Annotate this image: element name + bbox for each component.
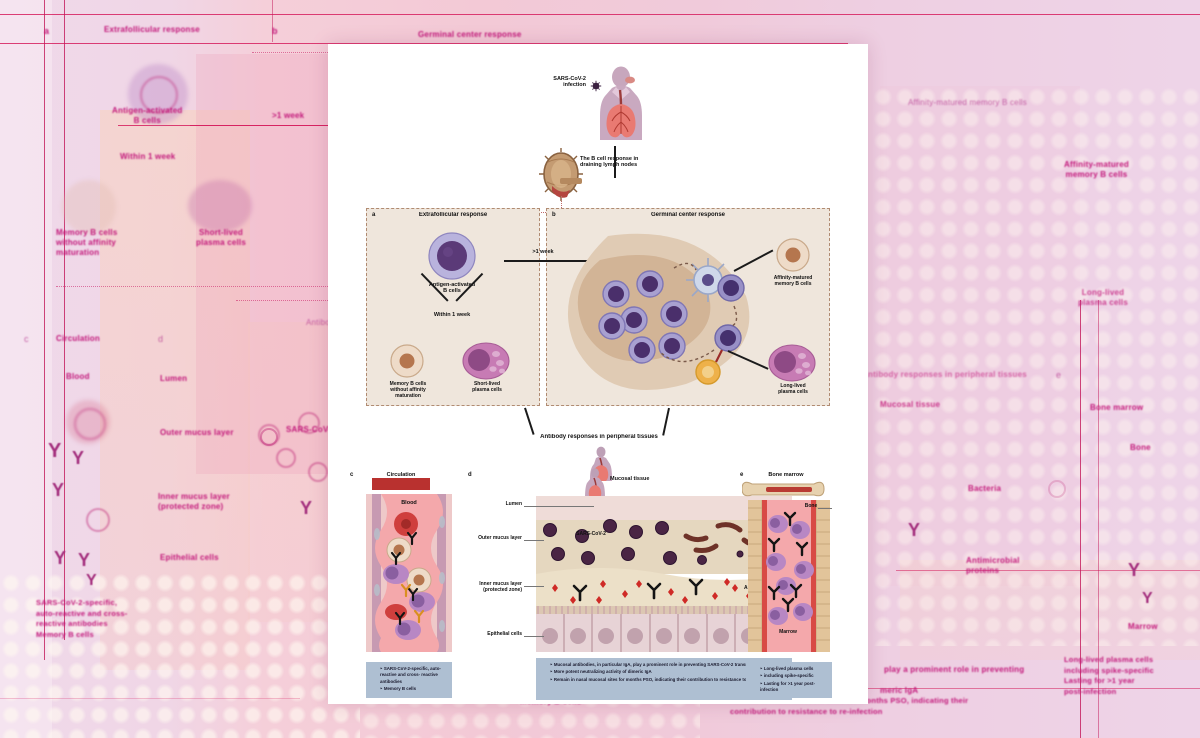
bg-antibody-10: Y [1142,590,1153,608]
short-lived-plasma-cell [462,342,510,380]
bg-band-rose [196,54,341,474]
bg-label-long-lived-bullets: Long-lived plasma cells including spike-… [1064,655,1154,697]
bg-label-germinal: Germinal center response [418,30,522,40]
panel-c-letter: c [350,472,353,478]
label-short-lived-plasma-cells: Short-lived plasma cells [458,382,516,394]
bg-label-extrafollicular: Extrafollicular response [104,25,200,35]
label-long-lived-plasma-cells: Long-lived plasma cells [764,384,822,396]
bg-rule-week [190,125,340,126]
bg-label-affinity-top-right: Affinity-matured memory B cells [908,98,1027,108]
bg-dotgrid-right [872,86,1200,646]
bg-label-memory-no-affinity: Memory B cells without affinity maturati… [56,228,118,258]
germinal-center-illustration [556,226,766,398]
bg-rule-lower-3 [0,698,300,699]
bg-virion-3 [276,448,296,468]
bg-label-circulation-bullets: SARS-CoV-2-specific, auto-reactive and c… [36,598,128,640]
bg-antibody-7: Y [300,498,312,519]
leader-outer-mucus [524,540,544,541]
panel-d-letter: d [468,472,472,478]
connector-a-down [524,408,534,435]
bg-antibody-6: Y [86,572,97,590]
bg-label-blood: Blood [66,372,90,382]
label-marrow: Marrow [768,630,808,636]
label-sars-cov-2-mucosa: SARS-CoV-2 [568,532,614,538]
bg-label-outer-mucus: Outer mucus layer [160,428,234,438]
figure-card: SARS-CoV-2 infection The B cell response… [328,44,868,704]
label-affinity-matured-memory: Affinity-matured memory B cells [760,276,826,288]
panel-c-bullet-2: Memory B cells [380,686,448,692]
affinity-matured-memory-b-cell [776,238,810,272]
blood-vessel-illustration [366,494,452,652]
label-blood: Blood [382,500,436,506]
bg-virion-4 [308,462,328,482]
panel-e-letter: e [740,472,743,478]
panel-d-title: Mucosal tissue [610,476,680,482]
long-lived-plasma-cell [768,344,816,382]
bg-label-bone-marrow: Bone marrow [1090,403,1143,413]
bg-label-meric-iga: meric IgA [880,686,918,696]
human-torso-illustration [586,66,656,144]
panel-a-letter: a [372,212,375,218]
panel-a-title: Extrafollicular response [388,212,518,219]
bg-label-panel-a-letter: a [44,26,49,37]
bg-label-short-lived-plasma: Short-lived plasma cells [196,228,246,248]
bg-cell-ring-2 [74,408,106,440]
bg-label-prominent-role: play a prominent role in preventing [884,665,1024,675]
panel-e-bullet-1: Long-lived plasma cells [760,666,828,672]
memory-b-cell-no-affinity [390,344,424,378]
bg-label-gt-1-week: >1 week [272,111,304,121]
panel-e-bullet-2: including spike-specific [760,673,828,679]
bg-antibody-4: Y [54,548,66,569]
bg-label-mucosal-tissue: Mucosal tissue [880,400,940,410]
bg-label-marrow: Marrow [1128,622,1158,632]
label-lumen: Lumen [474,502,522,508]
bg-label-circulation: Circulation [56,334,100,344]
leader-lumen [524,506,594,507]
bg-label-within-1-week: Within 1 week [120,152,175,162]
bg-label-peripheral-tissues: Antibody responses in peripheral tissues [862,370,1027,380]
bg-antibody-3: Y [52,480,64,501]
label-memory-b-cells-no-affinity: Memory B cells without affinity maturati… [376,382,440,399]
leader-inner-mucus [524,586,544,587]
bg-label-antimicrobial: Antimicrobial proteins [966,556,1020,576]
bone-icon [742,480,834,500]
circulation-title-bar [372,478,430,490]
label-outer-mucus-layer: Outer mucus layer [460,536,522,542]
bg-blob-plasma [188,180,252,232]
bg-label-inner-mucus: Inner mucus layer (protected zone) [158,492,230,512]
leader-bone [818,508,832,509]
bg-virion-6 [260,428,278,446]
panel-e-callout: Long-lived plasma cells including spike-… [746,662,832,698]
label-sars-cov2-infection: SARS-CoV-2 infection [524,76,586,89]
panel-b-title: Germinal center response [578,212,798,219]
bg-label-bone: Bone [1130,443,1151,453]
bg-vrule-2 [64,0,65,640]
bg-label-panel-d-letter: d [158,334,163,345]
label-inner-mucus-layer: Inner mucus layer (protected zone) [458,582,522,594]
virion-icon-top [590,80,602,92]
bg-virion-7 [1048,480,1066,498]
bg-label-epithelial: Epithelial cells [160,553,219,563]
bg-label-long-lived-plasma: Long-lived plasma cells [1078,288,1128,308]
bg-label-panel-b-letter: b [272,26,278,37]
bg-antibody-2: Y [72,448,84,469]
bg-rule-lower-1 [896,570,1200,571]
bg-antibody-9: Y [1128,560,1140,581]
panel-b-letter: b [552,212,556,218]
panel-c-callout: SARS-CoV-2-specific, auto-reactive and c… [366,662,452,698]
panel-e-bullet-3: Lasting for >1 year post-infection [760,681,828,694]
label-antigen-activated-b-cells: Antigen-activated B cells [412,282,492,295]
label-b-cell-response-lymph: The B cell response in draining lymph no… [580,156,680,169]
bg-rule-top-1 [0,14,1200,15]
panel-c-title: Circulation [368,472,434,478]
bg-label-panel-c-letter: c [24,334,29,345]
label-antibody-responses-peripheral: Antibody responses in peripheral tissues [504,434,694,441]
bg-label-affinity-matured: Affinity-matured memory B cells [1064,160,1129,180]
bg-vrule-1 [44,0,45,660]
bg-antibody-1: Y [48,440,61,463]
bg-blob-memory [62,180,116,234]
label-epithelial-cells: Epithelial cells [468,632,522,638]
bg-label-lumen: Lumen [160,374,187,384]
bg-label-panel-e-letter: e [1056,370,1061,381]
bg-virion-5 [86,508,110,532]
antigen-activated-b-cell [428,232,476,280]
label-within-1-week: Within 1 week [420,312,484,318]
connector-b-down [662,408,670,436]
bg-label-antigen-activated: Antigen-activated B cells [112,106,183,126]
bg-dotgrid-left [0,572,360,738]
bg-antibody-8: Y [908,520,920,541]
bg-label-bacteria: Bacteria [968,484,1001,494]
bg-antibody-5: Y [78,550,90,571]
panel-c-bullet-1: SARS-CoV-2-specific, auto-reactive and c… [380,666,448,685]
panel-e-title: Bone marrow [750,472,822,478]
leader-epithelial [524,636,544,637]
